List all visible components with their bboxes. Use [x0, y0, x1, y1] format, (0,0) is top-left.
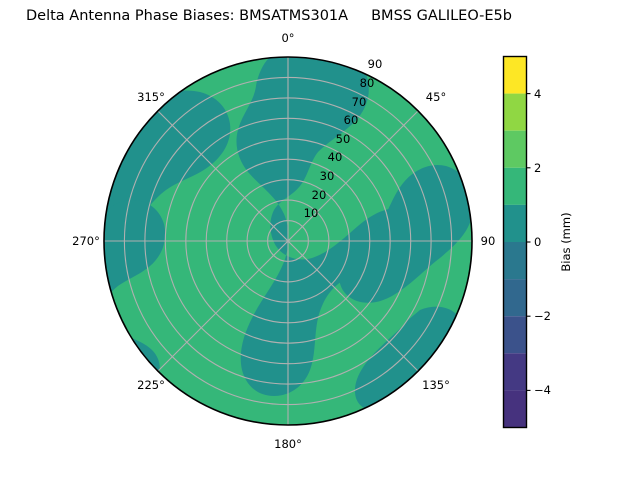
colorbar-tick-label-0: 0 — [534, 235, 541, 249]
colorbar-band-5to4 — [504, 57, 527, 94]
colorbar-band-m4tom5 — [504, 390, 527, 427]
colorbar-band-0tom1 — [504, 242, 527, 279]
angular-label-45: 45° — [426, 90, 446, 104]
colorbar-axis-label: Bias (mm) — [559, 212, 573, 271]
colorbar-band-3to2 — [504, 131, 527, 168]
colorbar-tick-label-minus4: −4 — [534, 383, 551, 397]
angular-label-90: 90 — [481, 234, 496, 248]
angular-label-0: 0° — [281, 31, 294, 45]
radial-label-20: 20 — [312, 188, 327, 202]
angular-label-315: 315° — [137, 90, 165, 104]
radial-label-30: 30 — [320, 169, 335, 183]
radial-label-50: 50 — [336, 132, 351, 146]
colorbar-band-m1tom2 — [504, 279, 527, 316]
radial-label-90: 90 — [368, 57, 383, 71]
angular-label-225: 225° — [137, 378, 165, 392]
angular-label-135: 135° — [422, 378, 450, 392]
colorbar[interactable] — [504, 57, 531, 428]
colorbar-band-4to3 — [504, 94, 527, 131]
colorbar-band-2to1 — [504, 168, 527, 205]
radial-label-10: 10 — [304, 206, 319, 220]
radial-label-40: 40 — [328, 150, 343, 164]
angular-label-270: 270° — [72, 234, 100, 248]
radial-label-60: 60 — [344, 113, 359, 127]
colorbar-tick-label-minus2: −2 — [534, 309, 551, 323]
colorbar-band-1to0 — [504, 205, 527, 242]
radial-label-80: 80 — [360, 76, 375, 90]
colorbar-band-m2tom3 — [504, 316, 527, 353]
figure-canvas: Delta Antenna Phase Biases: BMSATMS301A … — [0, 0, 640, 480]
polar-angular-gridlines — [104, 57, 472, 425]
angular-label-180: 180° — [274, 437, 302, 451]
colorbar-tick-label-2: 2 — [534, 161, 541, 175]
colorbar-band-m3tom4 — [504, 353, 527, 390]
colorbar-tick-label-4: 4 — [534, 87, 541, 101]
radial-label-70: 70 — [352, 95, 367, 109]
